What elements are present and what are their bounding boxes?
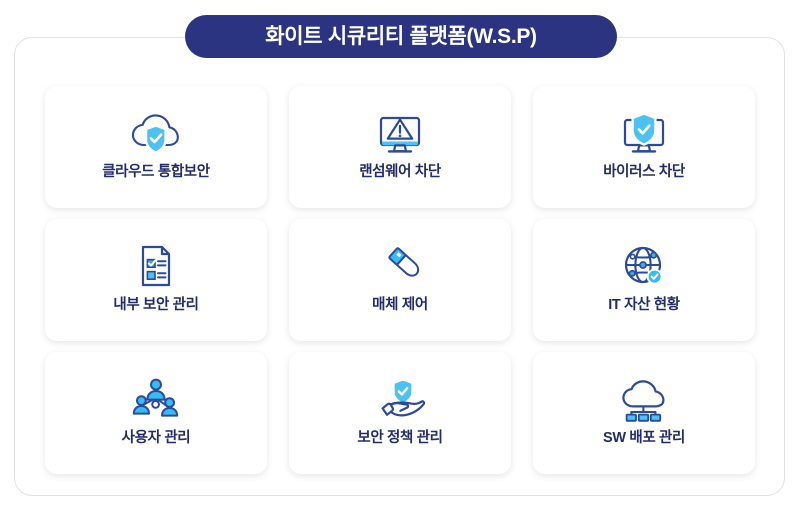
feature-card-label: 보안 정책 관리 (357, 431, 442, 447)
feature-card-virus-block[interactable]: 바이러스 차단 (533, 86, 755, 208)
feature-card-label: 사용자 관리 (122, 431, 191, 447)
feature-card-it-asset-status[interactable]: IT 자산 현황 (533, 219, 755, 341)
monitor-warning-icon (375, 110, 425, 156)
feature-card-user-management[interactable]: 사용자 관리 (45, 352, 267, 474)
feature-card-label: 매체 제어 (372, 298, 428, 314)
feature-card-sw-deployment-management[interactable]: SW 배포 관리 (533, 352, 755, 474)
globe-network-check-icon (620, 243, 668, 289)
feature-card-label: 내부 보안 관리 (113, 298, 198, 314)
document-checklist-icon (135, 243, 177, 289)
feature-card-label: 클라우드 통합보안 (102, 165, 210, 181)
hand-shield-icon (373, 376, 427, 422)
feature-card-label: 랜섬웨어 차단 (359, 165, 441, 181)
feature-card-label: 바이러스 차단 (603, 165, 685, 181)
feature-card-ransomware-block[interactable]: 랜섬웨어 차단 (289, 86, 511, 208)
feature-card-media-control[interactable]: 매체 제어 (289, 219, 511, 341)
feature-card-grid: 클라우드 통합보안 랜섬웨어 차단 (45, 86, 755, 474)
feature-card-cloud-integrated-security[interactable]: 클라우드 통합보안 (45, 86, 267, 208)
feature-card-label: IT 자산 현황 (608, 298, 680, 314)
cloud-shield-check-icon (128, 110, 184, 156)
feature-card-label: SW 배포 관리 (603, 431, 685, 447)
page-title-pill: 화이트 시큐리티 플랫폼(W.S.P) (185, 15, 617, 58)
page-title: 화이트 시큐리티 플랫폼(W.S.P) (265, 26, 537, 47)
users-network-icon (129, 376, 183, 422)
feature-card-internal-security-management[interactable]: 내부 보안 관리 (45, 219, 267, 341)
monitor-shield-check-icon (619, 110, 669, 156)
feature-card-security-policy-management[interactable]: 보안 정책 관리 (289, 352, 511, 474)
cloud-deploy-icon (616, 376, 672, 422)
usb-drive-icon (374, 243, 426, 289)
